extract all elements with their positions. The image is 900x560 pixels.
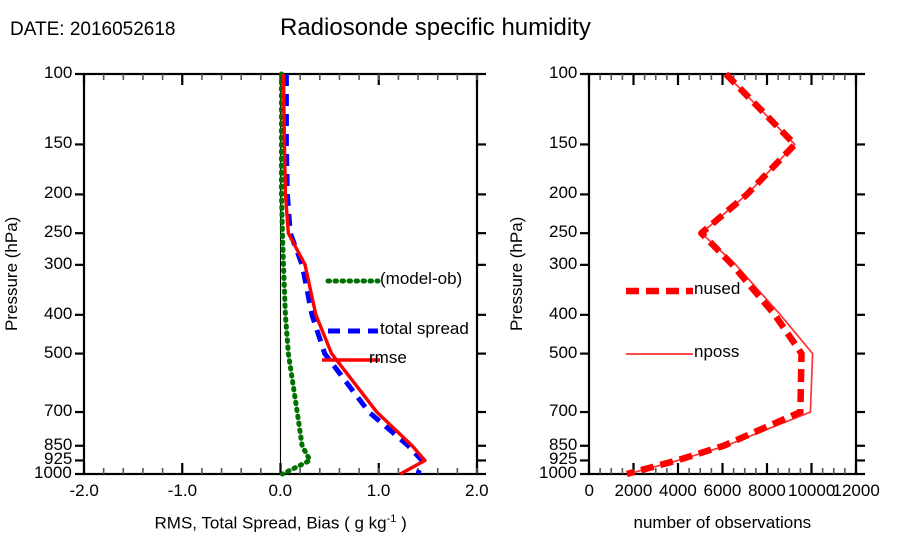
right-xtick-4: 8000 [748, 481, 786, 501]
left-ytick-4: 300 [44, 254, 72, 274]
legend-label-modelob: (model-ob) [380, 269, 462, 289]
right-yaxis-title: Pressure (hPa) [507, 217, 527, 331]
left-ytick-0: 100 [44, 63, 72, 83]
left-ytick-10: 1000 [34, 463, 72, 483]
left-ytick-1: 150 [44, 133, 72, 153]
left-ytick-7: 700 [44, 401, 72, 421]
left-xaxis-title-tail: ) [396, 514, 406, 533]
right-ytick-1: 150 [549, 133, 577, 153]
left-xaxis-title: RMS, Total Spread, Bias ( g kg-1 ) [155, 513, 407, 534]
left-xaxis-title-exponent: -1 [387, 513, 397, 525]
right-xtick-6: 12000 [833, 481, 880, 501]
plot-frame [589, 74, 856, 474]
right-ytick-7: 700 [549, 401, 577, 421]
legend-label-rmse: rmse [369, 348, 407, 368]
left-xtick-0: -2.0 [70, 481, 99, 501]
legend-label-nposs: nposs [694, 342, 739, 362]
left-xtick-1: -1.0 [168, 481, 197, 501]
right-ytick-3: 250 [549, 222, 577, 242]
right-ytick-0: 100 [549, 63, 577, 83]
right-ytick-4: 300 [549, 254, 577, 274]
left-yaxis-title: Pressure (hPa) [2, 217, 22, 331]
left-ytick-2: 200 [44, 183, 72, 203]
legend-label-totalspread: total spread [380, 319, 469, 339]
legend-label-nused: nused [694, 279, 740, 299]
right-ytick-10: 1000 [539, 463, 577, 483]
right-xtick-1: 2000 [615, 481, 653, 501]
right-xtick-2: 4000 [659, 481, 697, 501]
left-xaxis-title-main: RMS, Total Spread, Bias ( g kg [155, 514, 387, 533]
series-line-nused [627, 74, 802, 474]
right-xtick-0: 0 [585, 481, 594, 501]
left-ytick-6: 500 [44, 343, 72, 363]
right-ytick-5: 400 [549, 304, 577, 324]
plot-canvas: DATE: 2016052618 Radiosonde specific hum… [0, 0, 900, 560]
right-ytick-2: 200 [549, 183, 577, 203]
left-xtick-3: 1.0 [367, 481, 391, 501]
right-xtick-5: 10000 [788, 481, 835, 501]
right-xaxis-title: number of observations [634, 513, 812, 533]
left-ytick-3: 250 [44, 222, 72, 242]
left-xtick-4: 2.0 [465, 481, 489, 501]
right-ytick-6: 500 [549, 343, 577, 363]
right-xtick-3: 6000 [704, 481, 742, 501]
left-ytick-5: 400 [44, 304, 72, 324]
left-xtick-2: 0.0 [269, 481, 293, 501]
